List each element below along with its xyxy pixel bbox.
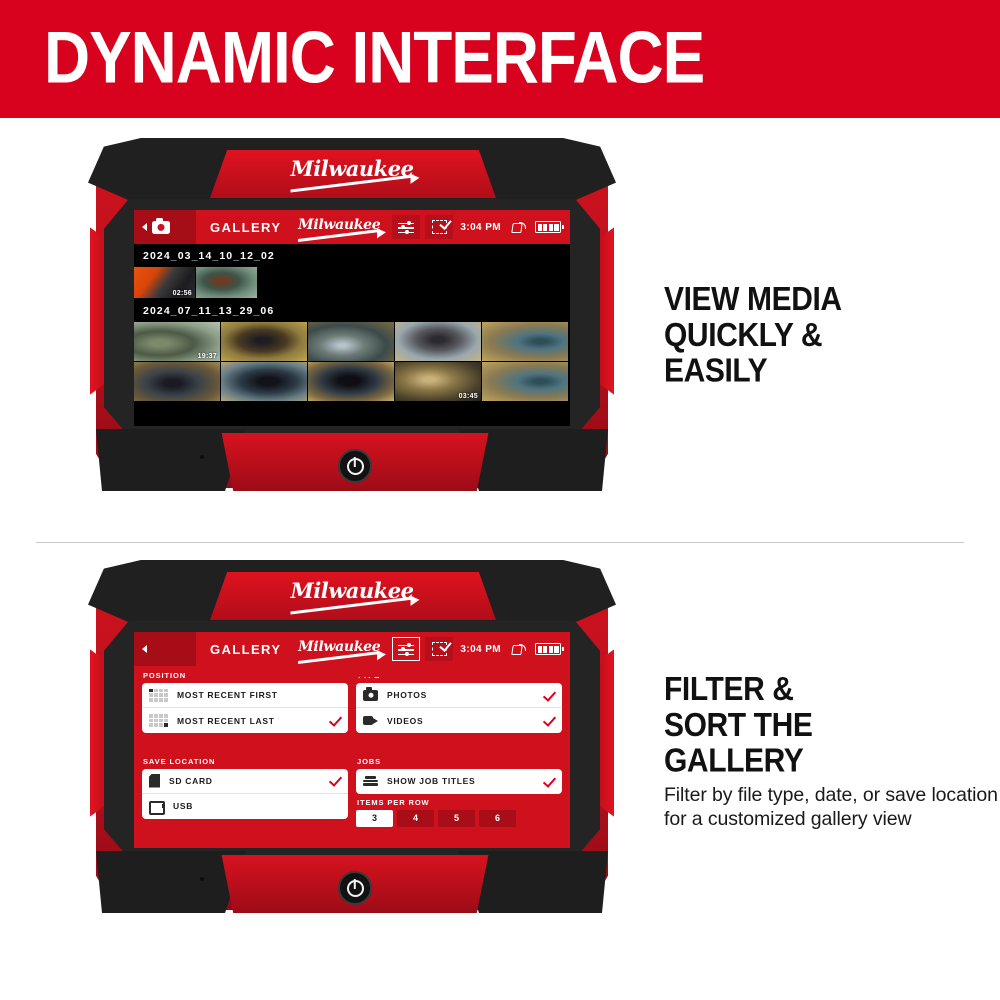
- gallery-content: 2024_03_14_10_12_02 02:56 2024_07_11_13_…: [134, 244, 570, 426]
- section-save-location: SAVE LOCATION SD CARD USB: [142, 757, 348, 849]
- option-label: SHOW JOB TITLES: [387, 776, 475, 786]
- section-card: SHOW JOB TITLES: [356, 769, 562, 794]
- items-per-row-option-4[interactable]: 4: [397, 810, 434, 827]
- gallery-thumbnail[interactable]: 03:45: [395, 362, 482, 402]
- page-title: DYNAMIC INTERFACE: [44, 22, 704, 95]
- camera-icon: [152, 221, 170, 234]
- battery-icon: [535, 643, 561, 655]
- milwaukee-logo-chassis: Milwaukee: [291, 578, 414, 607]
- wifi-icon: [511, 222, 524, 233]
- feature-body-text: Filter by file type, date, or save locat…: [664, 783, 1000, 832]
- back-button[interactable]: [134, 210, 196, 244]
- device-illustration-filter: Milwaukee GALLERY Milwaukee: [72, 552, 642, 922]
- power-button[interactable]: [338, 449, 372, 483]
- select-mode-button[interactable]: [425, 215, 453, 239]
- thumbnail-duration: 02:56: [173, 290, 192, 297]
- gallery-thumbnail[interactable]: [134, 362, 221, 402]
- section-divider: [36, 542, 964, 543]
- gallery-thumbnail[interactable]: [308, 322, 395, 362]
- checkmark-icon: [329, 690, 340, 701]
- feature-headline: VIEW MEDIA QUICKLY & EASILY: [664, 282, 1000, 389]
- microphone-hole: [200, 877, 204, 881]
- sd-card-icon: [149, 774, 160, 788]
- topbar-icon-group: 3:04 PM: [392, 637, 564, 661]
- checkmark-icon: [329, 775, 340, 786]
- option-show-job-titles[interactable]: SHOW JOB TITLES: [356, 769, 562, 794]
- section-card: SD CARD USB: [142, 769, 348, 819]
- section-type: TYPE PHOTOS VIDEOS: [356, 671, 562, 755]
- device-illustration-gallery: Milwaukee GALLERY Milwaukee: [72, 130, 642, 500]
- microphone-hole: [200, 455, 204, 459]
- headline-line: EASILY: [664, 354, 1000, 390]
- section-label: JOBS: [357, 757, 562, 766]
- topbar-icon-group: 3:04 PM: [392, 215, 564, 239]
- gallery-thumbnail[interactable]: [395, 322, 482, 362]
- select-mode-button[interactable]: [425, 637, 453, 661]
- device-bottom-plate: [210, 433, 500, 491]
- feature-panel-gallery: Milwaukee GALLERY Milwaukee: [0, 130, 1000, 530]
- gallery-thumbnail[interactable]: 02:56: [134, 267, 196, 299]
- headline-line: SORT THE: [664, 708, 1000, 744]
- headline-line: GALLERY: [664, 743, 1000, 779]
- gallery-thumbnail[interactable]: [221, 322, 308, 362]
- checkmark-icon: [329, 801, 340, 812]
- grid-last-icon: [149, 714, 168, 727]
- milwaukee-logo-chassis: Milwaukee: [291, 156, 414, 185]
- option-photos[interactable]: PHOTOS: [356, 683, 562, 708]
- back-button[interactable]: [134, 632, 196, 666]
- option-label: USB: [173, 801, 193, 811]
- items-per-row-options: 3 4 5 6: [356, 810, 562, 827]
- usb-icon: [149, 801, 164, 811]
- thumbnail-row: 03:45: [134, 362, 570, 402]
- thumbnail-row: 19:37: [134, 322, 570, 362]
- option-most-recent-first[interactable]: MOST RECENT FIRST: [142, 683, 348, 708]
- screen-topbar: GALLERY Milwaukee: [134, 210, 570, 244]
- feature-panel-filter: Milwaukee GALLERY Milwaukee: [0, 552, 1000, 952]
- checkmark-icon: [329, 715, 340, 726]
- chevron-left-icon: [142, 645, 147, 653]
- feature-text-filter: FILTER & SORT THE GALLERY Filter by file…: [642, 552, 1000, 952]
- device-bottom-plate: [210, 855, 500, 913]
- section-card: MOST RECENT FIRST MOST RECENT LAST: [142, 683, 348, 733]
- section-position: POSITION MOST RECENT FIRST: [142, 671, 348, 755]
- screen-title: GALLERY: [210, 642, 281, 657]
- headline-line: FILTER &: [664, 672, 1000, 708]
- job-title: 2024_03_14_10_12_02: [134, 244, 570, 267]
- filter-settings-button[interactable]: [392, 637, 420, 661]
- thumbnail-duration: 19:37: [198, 353, 217, 360]
- select-check-icon: [432, 642, 447, 656]
- photo-icon: [363, 690, 378, 701]
- option-most-recent-last[interactable]: MOST RECENT LAST: [142, 708, 348, 733]
- gallery-thumbnail[interactable]: 19:37: [134, 322, 221, 362]
- gallery-thumbnail[interactable]: [482, 362, 569, 402]
- feature-text-gallery: VIEW MEDIA QUICKLY & EASILY: [642, 130, 1000, 530]
- video-icon: [363, 715, 378, 726]
- option-label: VIDEOS: [387, 716, 423, 726]
- status-time: 3:04 PM: [460, 222, 501, 233]
- checkmark-icon: [543, 690, 554, 701]
- status-time: 3:04 PM: [460, 644, 501, 655]
- section-jobs: JOBS SHOW JOB TITLES ITEMS PER ROW 3 4: [356, 757, 562, 849]
- gallery-thumbnail[interactable]: [196, 267, 258, 299]
- feature-headline: FILTER & SORT THE GALLERY: [664, 672, 1000, 779]
- battery-icon: [535, 221, 561, 233]
- thumbnail-row: 02:56: [134, 267, 570, 299]
- option-label: MOST RECENT FIRST: [177, 690, 278, 700]
- power-icon: [347, 880, 364, 897]
- option-sd-card[interactable]: SD CARD: [142, 769, 348, 794]
- sliders-icon: [398, 220, 414, 234]
- select-check-icon: [432, 220, 447, 234]
- gallery-thumbnail[interactable]: [308, 362, 395, 402]
- checkmark-icon: [543, 715, 554, 726]
- option-label: SD CARD: [169, 776, 213, 786]
- milwaukee-logo-screen: Milwaukee: [298, 639, 380, 659]
- sliders-icon: [398, 642, 414, 656]
- items-per-row-option-5[interactable]: 5: [438, 810, 475, 827]
- option-label: MOST RECENT LAST: [177, 716, 275, 726]
- wifi-icon: [511, 644, 524, 655]
- thumbnail-duration: 03:45: [459, 393, 478, 400]
- headline-line: QUICKLY &: [664, 318, 1000, 354]
- page-banner: DYNAMIC INTERFACE: [0, 0, 1000, 118]
- screen-topbar: GALLERY Milwaukee: [134, 632, 570, 666]
- gallery-thumbnail[interactable]: [482, 322, 569, 362]
- filter-settings-button[interactable]: [392, 215, 420, 239]
- grid-first-icon: [149, 689, 168, 702]
- milwaukee-logo-screen: Milwaukee: [298, 217, 380, 237]
- section-label: SAVE LOCATION: [143, 757, 348, 766]
- option-label: PHOTOS: [387, 690, 427, 700]
- power-button[interactable]: [338, 871, 372, 905]
- gallery-thumbnail[interactable]: [221, 362, 308, 402]
- device-screen-gallery[interactable]: GALLERY Milwaukee: [134, 210, 570, 426]
- section-card: PHOTOS VIDEOS: [356, 683, 562, 733]
- items-per-row-option-6[interactable]: 6: [479, 810, 516, 827]
- option-usb[interactable]: USB: [142, 794, 348, 819]
- job-title: 2024_07_11_13_29_06: [134, 299, 570, 322]
- chevron-left-icon: [142, 223, 147, 231]
- device-screen-filter[interactable]: GALLERY Milwaukee: [134, 632, 570, 848]
- option-videos[interactable]: VIDEOS: [356, 708, 562, 733]
- items-per-row-option-3[interactable]: 3: [356, 810, 393, 827]
- items-per-row-label: ITEMS PER ROW: [357, 798, 562, 807]
- headline-line: VIEW MEDIA: [664, 282, 1000, 318]
- checkmark-icon: [543, 776, 554, 787]
- jobs-icon: [363, 775, 378, 787]
- screen-title: GALLERY: [210, 220, 281, 235]
- power-icon: [347, 458, 364, 475]
- filter-settings-content: POSITION MOST RECENT FIRST: [134, 666, 570, 848]
